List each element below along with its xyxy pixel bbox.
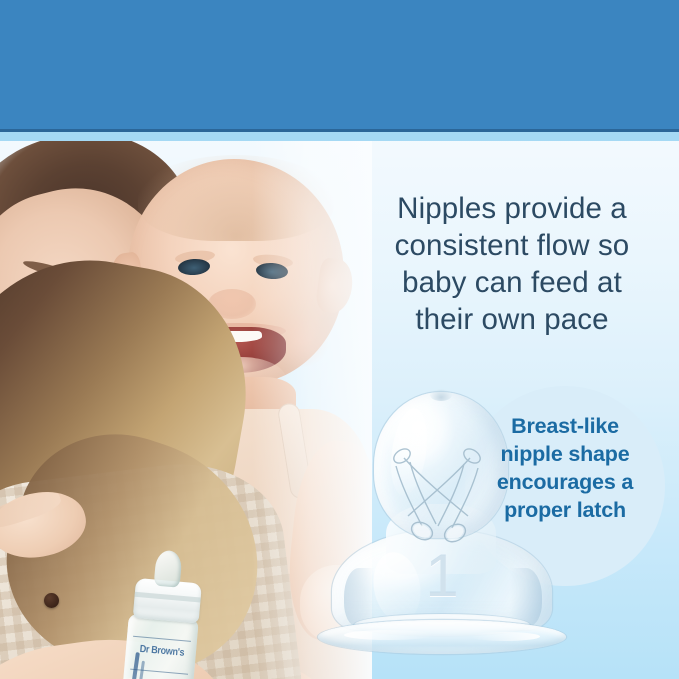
advertisement-infographic: Dr Brown's Nipples provide a consistent …	[0, 0, 679, 679]
body-copy-line-1: Nipples provide a	[352, 190, 672, 227]
baby-bottle: Dr Brown's	[103, 546, 212, 679]
callout-text: Breast-like nipple shape encourages a pr…	[465, 412, 665, 524]
mother-shirt-button	[44, 593, 59, 608]
body-copy-line-4: their own pace	[352, 301, 672, 338]
mother-and-baby-photo: Dr Brown's	[0, 141, 372, 679]
callout-line-2: nipple shape	[465, 440, 665, 468]
nipple-flange-highlight-left	[344, 630, 434, 640]
nipple-flow-level-number: 1	[332, 546, 552, 606]
callout-line-1: Breast-like	[465, 412, 665, 440]
nipple-flange-highlight-right	[470, 632, 540, 641]
body-copy: Nipples provide a consistent flow so bab…	[352, 190, 672, 338]
body-copy-line-3: baby can feed at	[352, 264, 672, 301]
bottle-nipple	[154, 550, 183, 588]
callout-line-3: encourages a	[465, 468, 665, 496]
header-banner	[0, 0, 679, 129]
callout-line-4: proper latch	[465, 496, 665, 524]
body-copy-line-2: consistent flow so	[352, 227, 672, 264]
header-accent-strip	[0, 132, 679, 141]
